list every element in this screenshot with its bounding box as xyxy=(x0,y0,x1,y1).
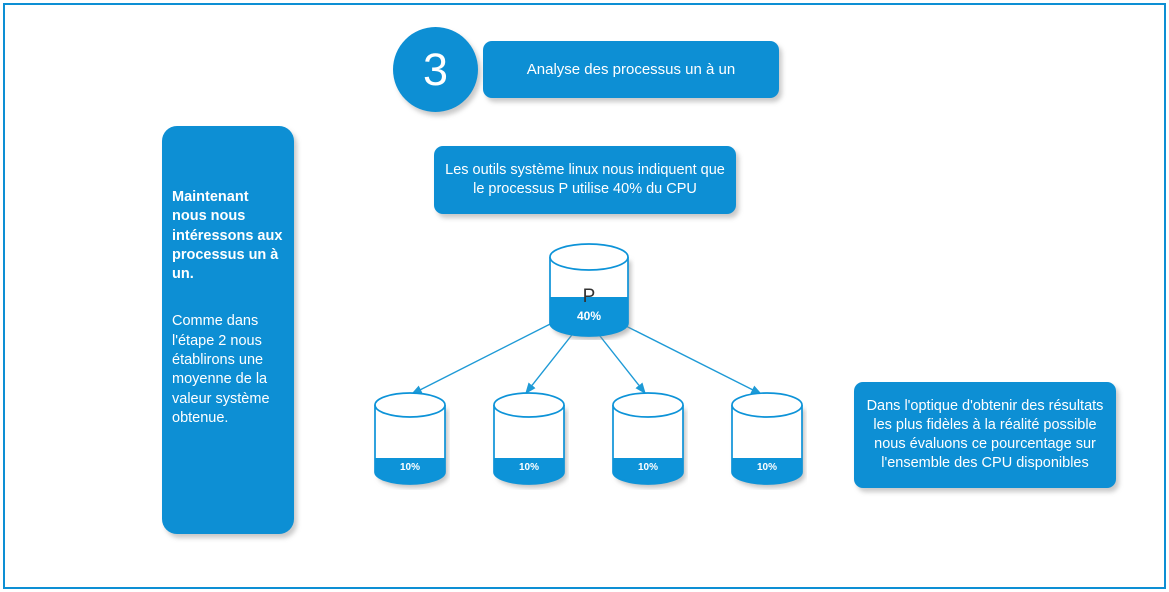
sidebar-note-panel: Maintenant nous nous intéressons aux pro… xyxy=(162,126,294,534)
child-cylinder-percent-1: 10% xyxy=(400,462,420,473)
slide-canvas: 3 Analyse des processus un à un Maintena… xyxy=(0,0,1169,592)
sidebar-body-text: Comme dans l'étape 2 nous établirons une… xyxy=(172,312,285,428)
child-cylinder-percent-3: 10% xyxy=(638,462,658,473)
page-title: Analyse des processus un à un xyxy=(527,61,735,78)
child-cylinder-percent-4: 10% xyxy=(757,462,777,473)
step-number-badge: 3 xyxy=(393,27,478,112)
child-cylinder-4: 10% xyxy=(727,390,807,490)
parent-cylinder-label: P xyxy=(583,286,596,307)
parent-cylinder-percent: 40% xyxy=(577,309,601,323)
slide-title-banner: Analyse des processus un à un xyxy=(483,41,779,98)
callout-right-text: Dans l'optique d'obtenir des résultats l… xyxy=(861,397,1109,474)
arrow-to-child-2 xyxy=(526,331,575,393)
callout-top-text: Les outils système linux nous indiquent … xyxy=(442,161,728,199)
callout-right-box: Dans l'optique d'obtenir des résultats l… xyxy=(854,382,1116,488)
callout-top-box: Les outils système linux nous indiquent … xyxy=(434,146,736,214)
child-cylinder-percent-2: 10% xyxy=(519,462,539,473)
sidebar-lead-text: Maintenant nous nous intéressons aux pro… xyxy=(172,188,285,284)
child-cylinder-2: 10% xyxy=(489,390,569,490)
step-number-label: 3 xyxy=(423,44,448,96)
parent-cylinder-p: P 40% xyxy=(543,240,635,340)
child-cylinder-3: 10% xyxy=(608,390,688,490)
arrow-to-child-3 xyxy=(596,331,645,393)
child-cylinder-1: 10% xyxy=(370,390,450,490)
